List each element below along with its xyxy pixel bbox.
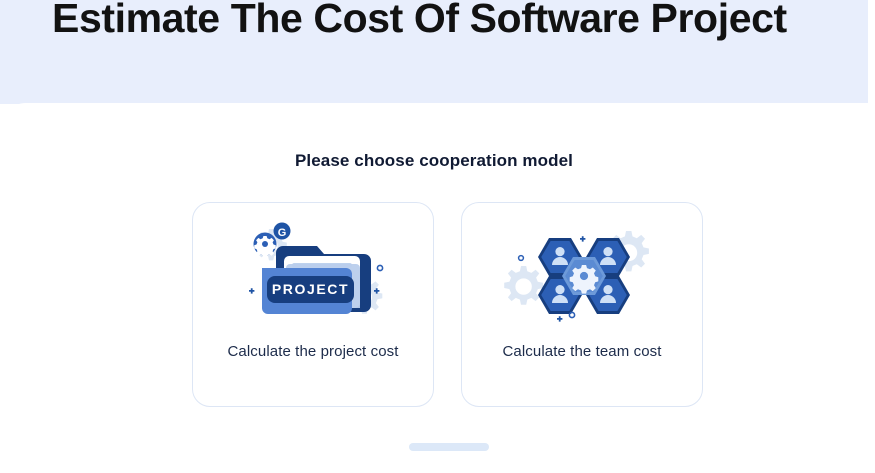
team-hexagons-illustration [462,203,702,343]
option-card-project-cost-label: Calculate the project cost [227,343,398,360]
option-card-project-cost[interactable]: PROJECT G [192,202,434,407]
bottom-progress-pill[interactable] [409,443,489,451]
page-header: Estimate The Cost Of Software Project [0,0,868,104]
cooperation-model-options: PROJECT G [192,202,703,407]
team-hexagons-svg [497,218,667,328]
option-card-team-cost-label: Calculate the team cost [502,343,661,360]
cooperation-model-heading: Please choose cooperation model [0,151,868,171]
project-badge-label: PROJECT [272,281,349,297]
estimate-cost-page: Estimate The Cost Of Software Project Pl… [0,0,875,473]
option-card-team-cost[interactable]: Calculate the team cost [461,202,703,407]
project-folder-svg: PROJECT G [228,218,398,328]
content-sheet: Please choose cooperation model [0,103,868,473]
svg-text:G: G [278,227,287,239]
project-folder-illustration: PROJECT G [193,203,433,343]
gear-icon [570,265,599,294]
page-title: Estimate The Cost Of Software Project [52,0,787,42]
project-badge: PROJECT [267,276,354,303]
